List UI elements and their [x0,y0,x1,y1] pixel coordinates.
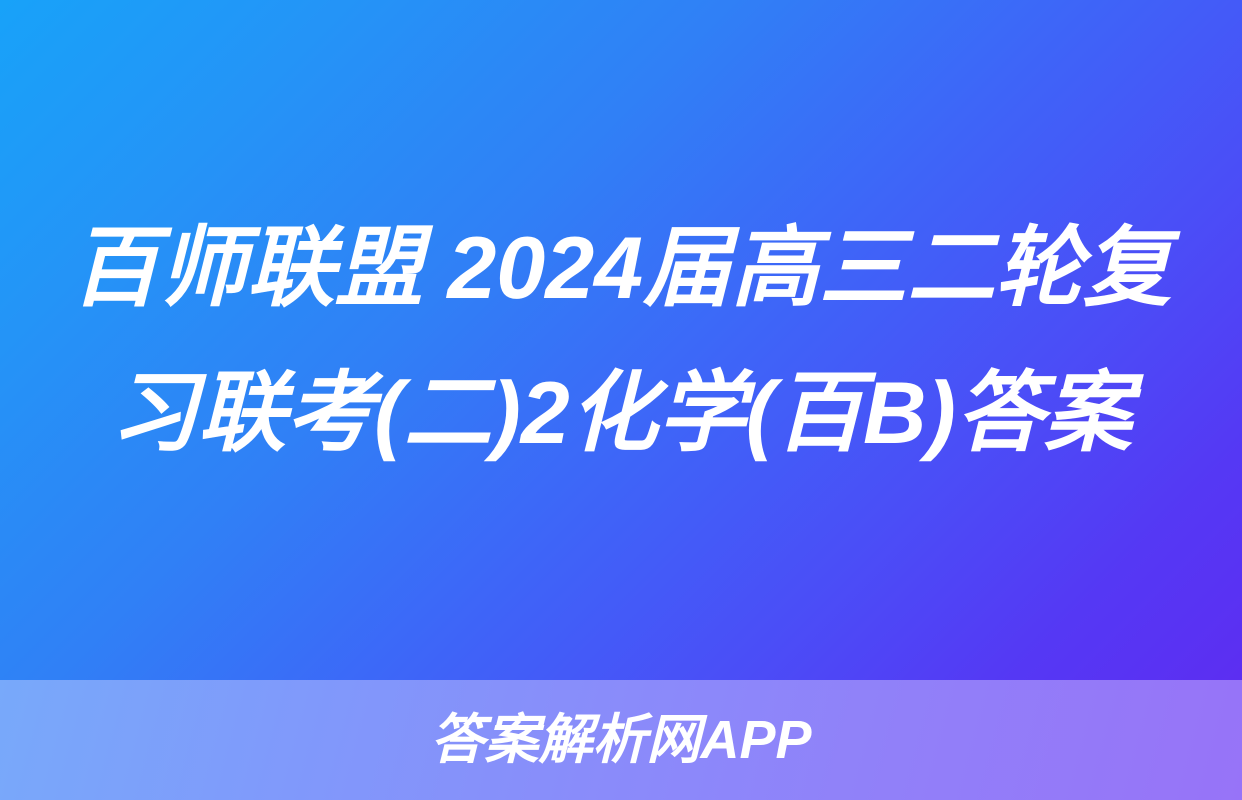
brand-band: 答案解析网APP [0,680,1242,800]
brand-app-label: 答案解析网APP [430,710,811,770]
answer-cover-card: 百师联盟 2024届高三二轮复习联考(二)2化学(百B)答案 答案解析网APP [0,0,1242,800]
page-title: 百师联盟 2024届高三二轮复习联考(二)2化学(百B)答案 [70,195,1172,485]
hero-content: 百师联盟 2024届高三二轮复习联考(二)2化学(百B)答案 [0,0,1242,680]
